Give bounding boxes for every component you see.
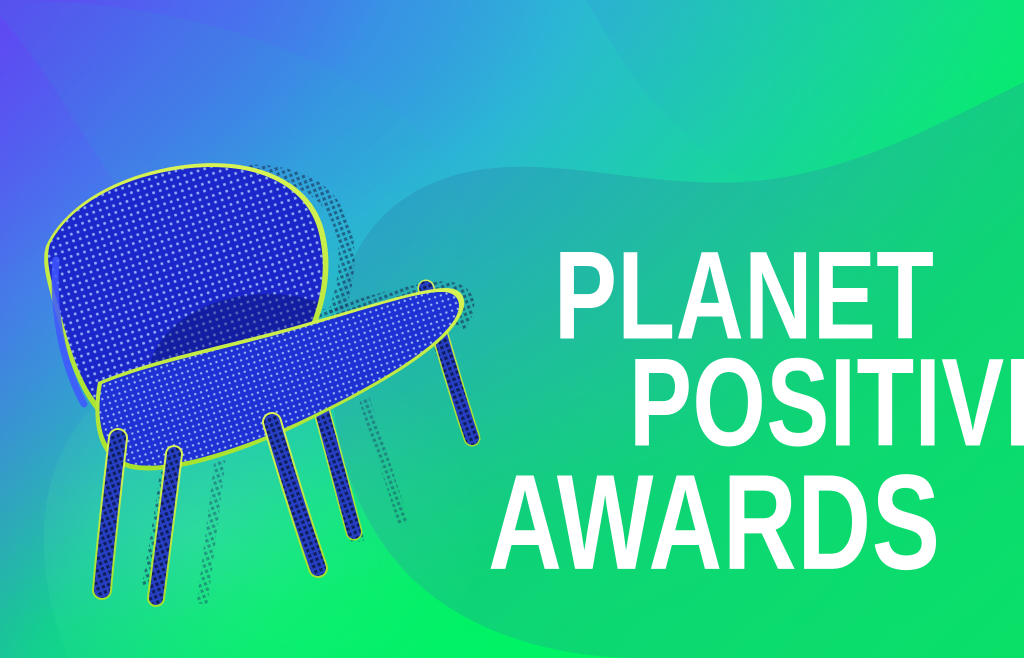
poster-canvas: PLANET POSITIVE AWARDS (0, 0, 1024, 658)
chair-illustration (6, 112, 546, 622)
